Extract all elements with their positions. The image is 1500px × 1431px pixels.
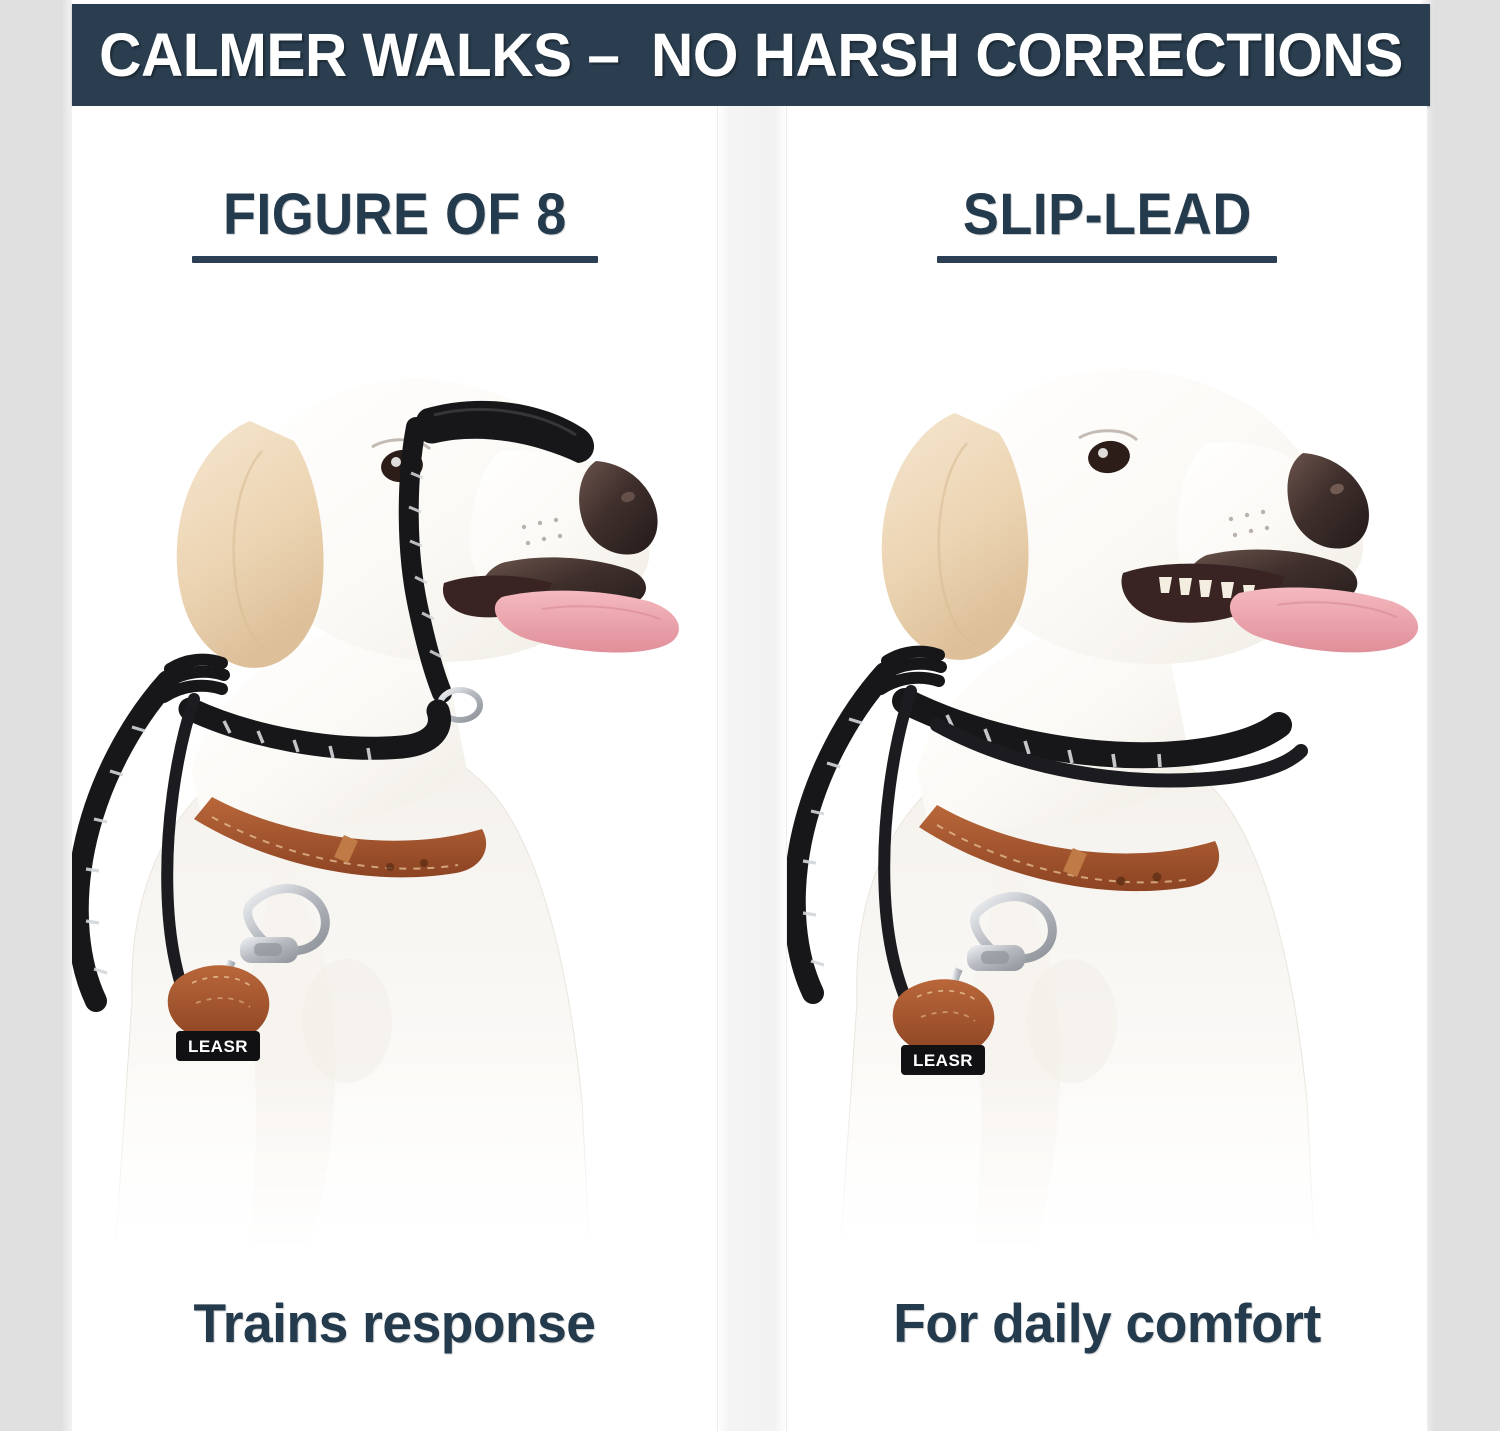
leash-knot-wrap bbox=[881, 652, 941, 689]
header-banner: CALMER WALKS – NO HARSH CORRECTIONS bbox=[72, 4, 1430, 106]
panel-title-text: FIGURE OF 8 bbox=[223, 186, 567, 244]
dog-eye-highlight bbox=[391, 457, 401, 467]
leash-knot-wrap bbox=[164, 660, 224, 697]
panel-heading-figure-of-8: FIGURE OF 8 bbox=[72, 186, 717, 263]
product-comparison-infographic: CALMER WALKS – NO HARSH CORRECTIONS FIGU… bbox=[0, 0, 1500, 1431]
dog-shoulder bbox=[1027, 959, 1117, 1083]
panel-title-underline bbox=[937, 256, 1277, 263]
product-photo-slip-lead: LEASR bbox=[787, 301, 1427, 1301]
brand-tag-text: LEASR bbox=[188, 1037, 248, 1056]
panel-figure-of-8: FIGURE OF 8 bbox=[72, 106, 717, 1431]
product-photo-figure-of-8: LEASR bbox=[72, 301, 717, 1301]
header-title: CALMER WALKS – NO HARSH CORRECTIONS bbox=[99, 25, 1403, 86]
panel-title-underline bbox=[192, 256, 598, 263]
panel-divider bbox=[717, 106, 787, 1431]
dog-shoulder bbox=[302, 959, 392, 1083]
comparison-panels: FIGURE OF 8 bbox=[72, 106, 1427, 1431]
panel-slip-lead: SLIP-LEAD bbox=[787, 106, 1427, 1431]
brand-tag-text: LEASR bbox=[913, 1051, 973, 1070]
dog-with-slip-lead-illustration: LEASR bbox=[787, 301, 1427, 1301]
panel-heading-slip-lead: SLIP-LEAD bbox=[787, 186, 1427, 263]
panel-caption-slip-lead: For daily comfort bbox=[797, 1296, 1418, 1351]
dog-with-figure-of-8-halter-illustration: LEASR bbox=[72, 301, 717, 1301]
panel-title-text: SLIP-LEAD bbox=[963, 186, 1252, 244]
dog-eye-highlight bbox=[1098, 448, 1108, 458]
panel-caption-figure-of-8: Trains response bbox=[82, 1296, 708, 1351]
